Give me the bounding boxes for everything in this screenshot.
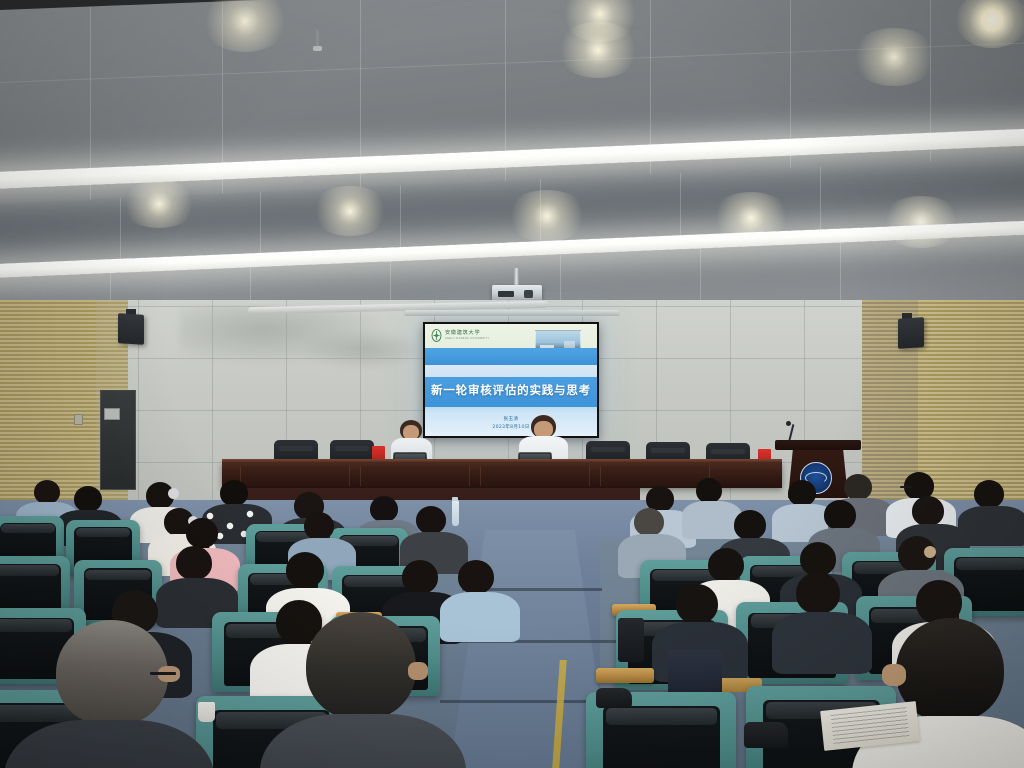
- conference-hall-photo: 安徽建筑大学 ANHUI JIANZHU UNIVERSITY 新一轮审核评估的…: [0, 0, 1024, 768]
- ceiling-downlight: [505, 190, 589, 242]
- paper-cup: [198, 702, 215, 722]
- glasses-icon: [900, 486, 912, 488]
- shoe: [596, 688, 632, 708]
- glasses-icon: [150, 672, 176, 675]
- projector-mount-rod: [514, 268, 519, 286]
- side-door[interactable]: [100, 390, 136, 490]
- light-switch[interactable]: [74, 414, 83, 425]
- shoe: [744, 722, 788, 748]
- wall-discoloration: [300, 330, 430, 370]
- slide-band: [425, 348, 597, 365]
- water-bottle: [452, 500, 459, 526]
- sprinkler-head: [313, 46, 322, 51]
- projector-vent: [498, 291, 514, 297]
- wall-speaker-icon: [898, 317, 924, 349]
- slide-presenter-name: 张玉清: [425, 416, 597, 422]
- slide-logo-subtext: ANHUI JIANZHU UNIVERSITY: [445, 337, 489, 340]
- slide-logo-text: 安徽建筑大学: [445, 329, 480, 336]
- university-logo-icon: [431, 329, 442, 342]
- presentation-slide: 安徽建筑大学 ANHUI JIANZHU UNIVERSITY 新一轮审核评估的…: [425, 324, 597, 436]
- ceiling-downlight: [310, 186, 390, 236]
- screen-roller-housing: [404, 310, 620, 316]
- slide-date: 2023年8月10日: [425, 424, 597, 430]
- ceiling-downlight: [120, 180, 198, 228]
- wood-slat-panel: [918, 300, 1024, 500]
- table-front-panel: [600, 466, 710, 486]
- seat-writing-tray: [596, 668, 654, 683]
- projection-screen: 安徽建筑大学 ANHUI JIANZHU UNIVERSITY 新一轮审核评估的…: [423, 322, 599, 438]
- handbag: [618, 618, 644, 662]
- document-text-lines: [830, 707, 910, 745]
- ceiling-downlight: [850, 28, 938, 86]
- slide-title: 新一轮审核评估的实践与思考: [425, 382, 597, 398]
- table-front-panel: [240, 466, 350, 486]
- wood-slat-panel: [0, 300, 96, 500]
- ceiling-downlight: [555, 22, 641, 78]
- bottle-cap: [452, 497, 458, 501]
- slide-band: [425, 407, 597, 415]
- slide-band: [425, 365, 597, 377]
- wall-speaker-icon: [118, 313, 144, 345]
- table-front-panel: [480, 466, 590, 486]
- table-front-panel: [360, 466, 470, 486]
- lectern-top: [775, 440, 861, 450]
- microphone-head-icon: [786, 421, 791, 426]
- projector-lens: [524, 290, 533, 298]
- wall-control-box: [104, 408, 120, 420]
